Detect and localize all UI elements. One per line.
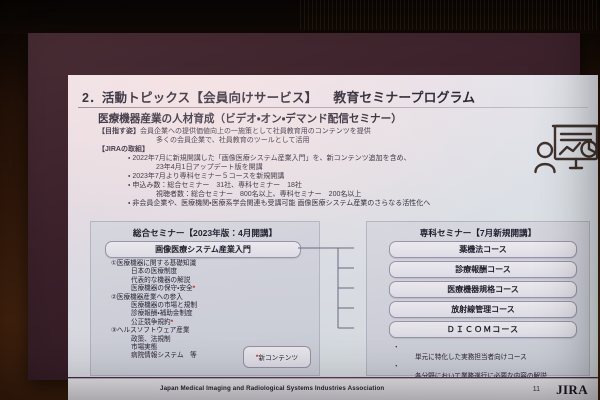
course-box-shinryohoshu[interactable]: 診療報酬コース xyxy=(389,261,577,278)
outline-item: 日本の医療制度 xyxy=(111,268,313,276)
page-title: 2．活動トピックス【会員向けサービス】 xyxy=(82,87,317,106)
bullet-text: 2022年7月に新規開講した「画像医療システム産業入門」を、新コンテンツ追加を含… xyxy=(132,155,410,162)
legend-label: 新コンテンツ xyxy=(259,352,299,362)
outline-text: 政策、法規制 xyxy=(131,336,171,343)
slide-subtitle: 医療機器産業の人材育成（ビデオ・オン・デマンド配信セミナー） xyxy=(98,111,402,126)
new-content-marker: * xyxy=(171,319,174,326)
projection-screen-frame: 2．活動トピックス【会員向けサービス】 教育セミナープログラム 医療機器産業の人… xyxy=(28,33,580,380)
general-seminar-panel: 総合セミナー【2023年版：4月開講】 画像医療システム産業入門 ①医療機器に関… xyxy=(90,221,320,376)
aim-line-1: 【目指す姿】会員企業への提供価値向上の一施策として社員教育用のコンテンツを提供 xyxy=(98,127,590,136)
outline-item: 医療機器の保守・安全* xyxy=(111,285,313,293)
outline-item: ②医療機器産業への参入 xyxy=(111,294,313,302)
title-divider xyxy=(78,107,588,108)
outline-text: 医療機器の保守・安全 xyxy=(131,285,193,292)
specialty-seminar-notes: ・ 単元に特化した実務担当者向けコース ・ 各分野において業務遂行に必要な内容の… xyxy=(383,343,583,381)
slide-title-row: 2．活動トピックス【会員向けサービス】 教育セミナープログラム xyxy=(82,87,588,106)
panel-connector-lines xyxy=(298,221,370,376)
outline-text: 市場実態 xyxy=(131,344,157,351)
outline-item: 代表的な機器の解説 xyxy=(111,277,313,285)
course-box-yakukiho[interactable]: 薬機法コース xyxy=(389,241,577,258)
course-box-kikikikaku[interactable]: 医療機器規格コース xyxy=(389,281,577,298)
bullet-item: ・ 非会員企業や、医療機関・医療系学会関連も受講可能 画像医療システム産業のさら… xyxy=(98,199,590,208)
outline-item: 公正競争規約* xyxy=(111,319,313,327)
screenshot-root: 2．活動トピックス【会員向けサービス】 教育セミナープログラム 医療機器産業の人… xyxy=(0,0,600,400)
note-item: ・ 単元に特化した実務担当者向けコース xyxy=(383,343,583,362)
specialty-seminar-heading: 専科セミナー【7月新規開講】 xyxy=(367,227,589,239)
aim-label: 【目指す姿】 xyxy=(98,128,140,135)
outline-text: 公正競争規約 xyxy=(131,319,171,326)
bullet-cont: 23年4月1日アップデート版を開講 xyxy=(98,163,590,172)
bullet-item: ・ 申込み数：総合セミナー 31社、専科セミナー 18社 xyxy=(98,181,590,190)
outline-item: 診療報酬・補助金制度 xyxy=(111,310,313,318)
outline-text: 日本の医療制度 xyxy=(131,268,177,275)
wall-texture xyxy=(300,0,600,30)
new-content-marker: * xyxy=(193,285,196,292)
outline-text: 代表的な機器の解説 xyxy=(131,277,190,284)
outline-text: ②医療機器産業への参入 xyxy=(111,294,183,301)
general-seminar-main-box[interactable]: 画像医療システム産業入門 xyxy=(105,241,301,258)
effort-label: 【JIRAの取組】 xyxy=(98,145,590,154)
bullet-item: ・ 2023年7月より専科セミナー５コースを新規開講 xyxy=(98,172,590,181)
jira-logo: JIRA xyxy=(556,382,588,398)
outline-item: ③ヘルスソフトウェア産業 xyxy=(111,327,313,335)
presentation-slide: 2．活動トピックス【会員向けサービス】 教育セミナープログラム 医療機器産業の人… xyxy=(68,75,598,400)
slide-footer: Japan Medical Imaging and Radiological S… xyxy=(68,378,598,400)
bullet-text: 2023年7月より専科セミナー５コースを新規開講 xyxy=(132,173,284,180)
outline-text: 病院情報システム 等 xyxy=(131,352,197,359)
outline-text: ③ヘルスソフトウェア産業 xyxy=(111,327,189,334)
bullet-text: 非会員企業や、医療機関・医療系学会関連も受講可能 画像医療システム産業のさらなる… xyxy=(132,200,430,207)
specialty-seminar-panel: 専科セミナー【7月新規開講】 薬機法コース 診療報酬コース 医療機器規格コース … xyxy=(366,221,590,376)
outline-text: 診療報酬・補助金制度 xyxy=(131,310,193,317)
aim-text-2: 多くの会員企業で、社員教育のツールとして活用 xyxy=(98,136,590,145)
presentation-chart-icon xyxy=(534,124,598,180)
page-number: 11 xyxy=(533,386,540,393)
note-text: 単元に特化した実務担当者向けコース xyxy=(405,353,583,363)
body-text-block: 【目指す姿】会員企業への提供価値向上の一施策として社員教育用のコンテンツを提供 … xyxy=(98,127,590,208)
outline-item: 政策、法規制 xyxy=(111,336,313,344)
bullet-cont: 視聴者数：総合セミナー 800名以上、専科セミナー 200名以上 xyxy=(98,190,590,199)
general-seminar-heading: 総合セミナー【2023年版：4月開講】 xyxy=(91,227,319,239)
outline-text: ①医療機器に関する基礎知識 xyxy=(111,260,196,267)
course-box-hoshasenkanri[interactable]: 放射線管理コース xyxy=(389,301,577,318)
aim-text-1: 会員企業への提供価値向上の一施策として社員教育用のコンテンツを提供 xyxy=(140,128,371,135)
association-name: Japan Medical Imaging and Radiological S… xyxy=(160,385,384,392)
bullet-item: ・ 2022年7月に新規開講した「画像医療システム産業入門」を、新コンテンツ追加… xyxy=(98,154,590,163)
course-box-dicom[interactable]: ＤＩＣＯＭコース xyxy=(389,321,577,338)
outline-text: 医療機器の市場と規制 xyxy=(131,302,197,309)
page-title-topic: 教育セミナープログラム xyxy=(333,87,475,106)
bullet-text: 申込み数：総合セミナー 31社、専科セミナー 18社 xyxy=(132,182,302,189)
